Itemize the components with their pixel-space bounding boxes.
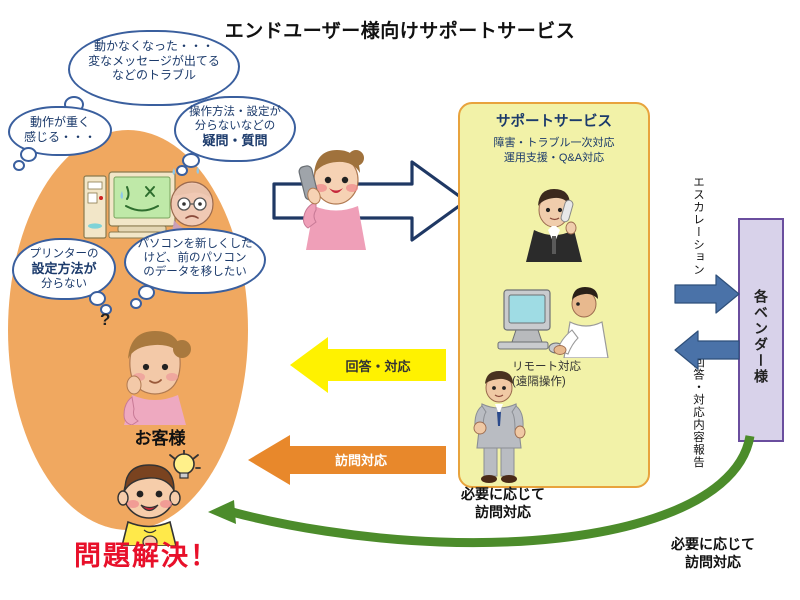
bubble-migrate-line3: のデータを移したい — [136, 265, 254, 279]
visit-note-right: 必要に応じて 訪問対応 — [628, 536, 798, 572]
bubble-trouble-line2: 変なメッセージが出てる — [80, 54, 228, 69]
bubble-printer-line2: 設定方法が — [24, 261, 104, 277]
support-staff-phone-illustration — [524, 188, 586, 262]
visit-note-right-line1: 必要に応じて — [628, 536, 798, 554]
puzzled-woman-illustration — [108, 315, 202, 425]
bubble-question-line3: 疑問・質問 — [186, 133, 284, 149]
bubble-slow-performance: 動作が重く 感じる・・・ — [8, 106, 112, 156]
bubble-trouble-line1: 動かなくなった・・・ — [80, 39, 228, 54]
remote-support-label: リモート対応 (遠隔操作) — [512, 360, 642, 391]
bubble-question: 操作方法・設定が 分らないなどの 疑問・質問 — [174, 96, 296, 162]
question-mark-symbol: ? — [100, 310, 110, 330]
bubble-slow-line1: 動作が重く — [20, 115, 100, 130]
vendor-label: 各ベンダー様 — [738, 262, 784, 412]
support-service-subtitle: 障害・トラブル一次対応 運用支援・Q&A対応 — [458, 136, 650, 165]
bubble-question-line1: 操作方法・設定が — [186, 105, 284, 119]
bubble-migrate-line2: けど、前のパソコン — [136, 251, 254, 265]
remote-support-pc-illustration — [494, 286, 612, 358]
phone-customer-woman-illustration — [296, 140, 374, 250]
visit-note-right-line2: 訪問対応 — [628, 554, 798, 572]
support-sub-line2: 運用支援・Q&A対応 — [458, 151, 650, 166]
arrow-answer-label: 回答・対応 — [318, 356, 438, 375]
diagram-canvas: エンドユーザー様向けサポートサービス — [0, 0, 800, 600]
bubble-slow-line2: 感じる・・・ — [20, 130, 100, 145]
bubble-data-migration: パソコンを新しくした けど、前のパソコン のデータを移したい — [124, 228, 266, 294]
bubble-trouble-line3: などのトラブル — [80, 68, 228, 83]
bubble-trouble: 動かなくなった・・・ 変なメッセージが出てる などのトラブル — [68, 30, 240, 106]
remote-label-line1: リモート対応 — [512, 360, 642, 375]
bubble-printer-setup: プリンターの 設定方法が 分らない — [12, 238, 116, 300]
bubble-question-line2: 分らないなどの — [186, 119, 284, 133]
bubble-printer-line1: プリンターの — [24, 247, 104, 261]
support-service-title: サポートサービス — [458, 110, 650, 131]
support-sub-line1: 障害・トラブル一次対応 — [458, 136, 650, 151]
remote-label-line2: (遠隔操作) — [512, 375, 642, 390]
bubble-printer-line3: 分らない — [24, 277, 104, 291]
arrow-report-left — [674, 330, 740, 370]
bubble-migrate-line1: パソコンを新しくした — [136, 237, 254, 251]
arrow-escalation-right — [674, 274, 740, 314]
